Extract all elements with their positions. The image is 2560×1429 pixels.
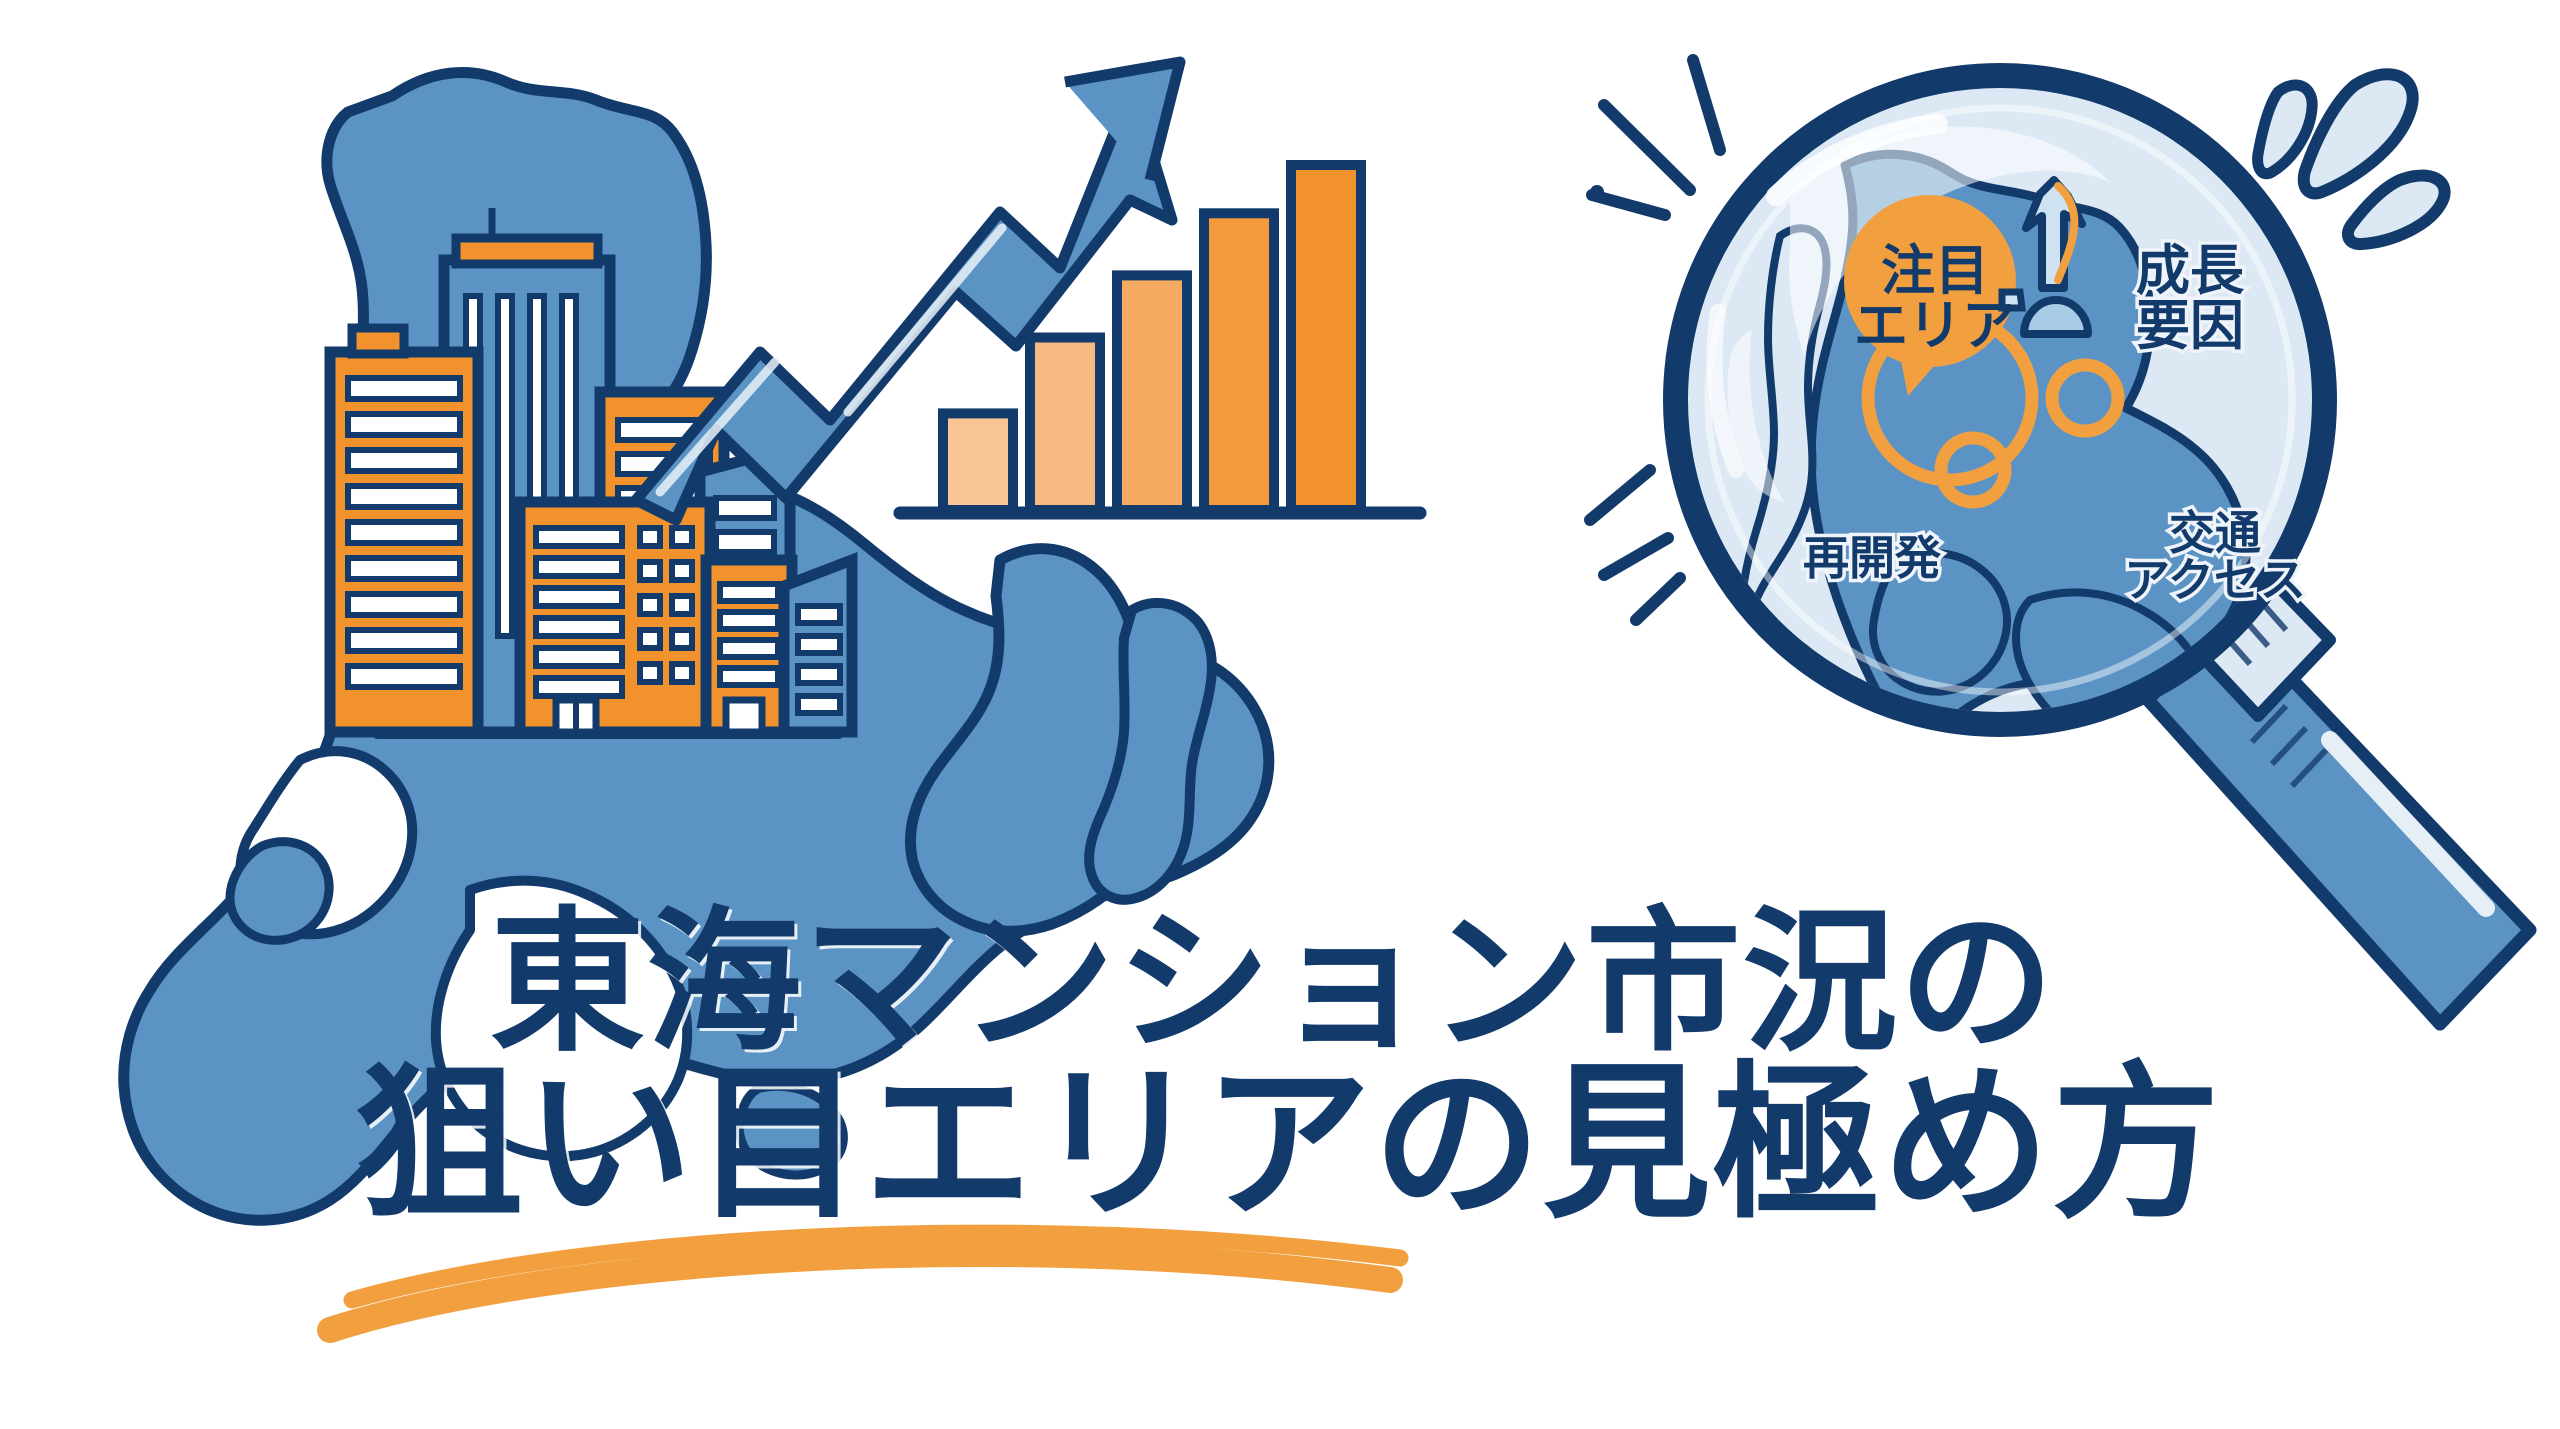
- header-illustration: [0, 0, 2560, 1429]
- building-orange-front: [520, 502, 710, 732]
- label-seicho-youin: 成長 要因: [2100, 243, 2280, 353]
- bar-1: [943, 413, 1013, 510]
- label-seicho-line2: 要因: [2100, 298, 2280, 353]
- bar-3: [1117, 275, 1187, 510]
- label-chumoku-line1: 注目: [1840, 243, 2030, 298]
- label-seicho-line1: 成長: [2100, 243, 2280, 298]
- building-blue-right: [784, 560, 852, 732]
- label-kotsu-line2: アクセス: [2090, 557, 2340, 604]
- bar-4: [1204, 213, 1274, 510]
- building-orange-left: [330, 328, 478, 732]
- label-kotsu-line1: 交通: [2090, 510, 2340, 557]
- illustration-canvas: 東海マンション市況の 狙い目エリアの見極め方 注目 エリア 成長 要因 再開発 …: [0, 0, 2560, 1429]
- label-kotsu-access: 交通 アクセス: [2090, 510, 2340, 604]
- bar-2: [1030, 338, 1100, 511]
- bar-5: [1291, 165, 1361, 510]
- label-chumoku-area: 注目 エリア: [1840, 243, 2030, 353]
- label-saikaihatsu: 再開発: [1772, 535, 1972, 582]
- label-chumoku-line2: エリア: [1840, 298, 2030, 353]
